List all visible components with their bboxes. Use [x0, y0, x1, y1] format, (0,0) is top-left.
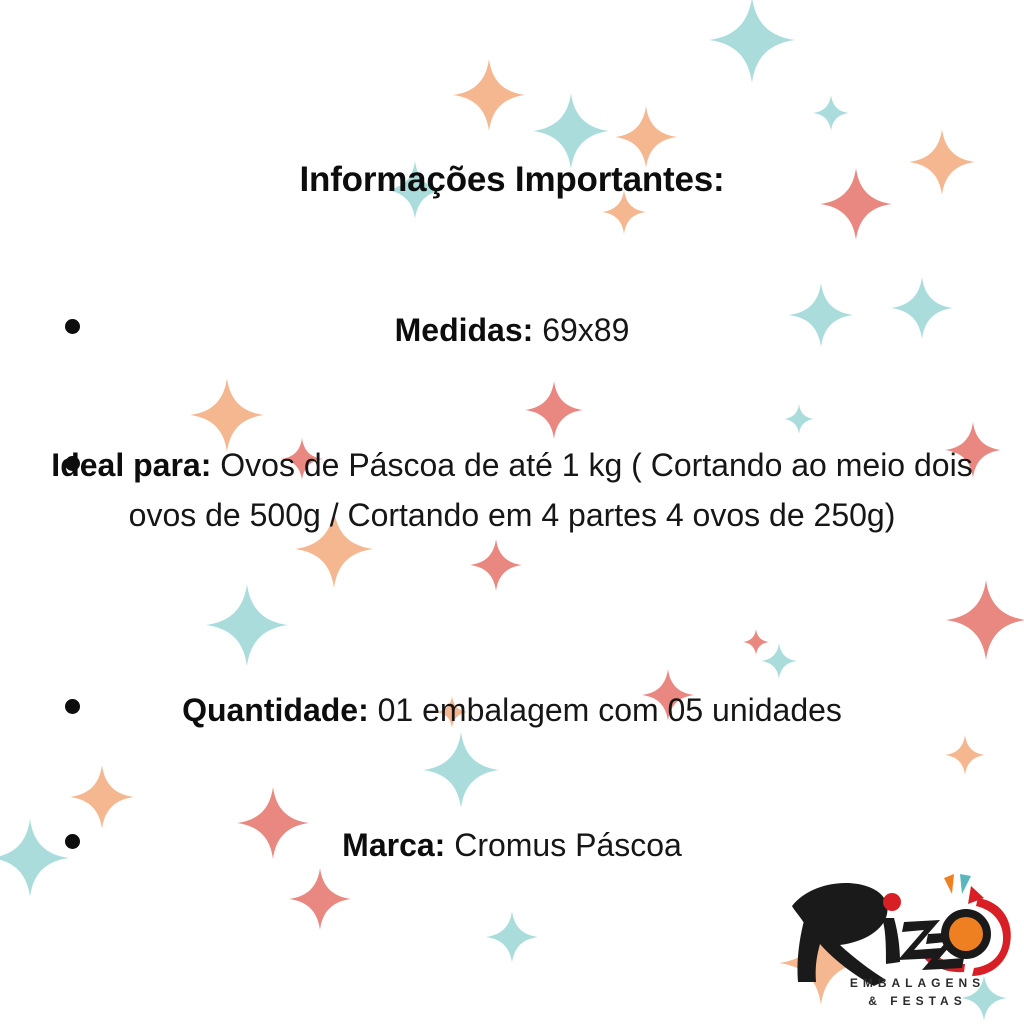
bullet-dot-icon	[65, 319, 80, 334]
list-item-label: Marca:	[342, 827, 445, 863]
list-item-value: 01 embalagem com 05 unidades	[378, 692, 842, 728]
rizzo-logo: EMBALAGENS & FESTAS	[782, 872, 1024, 1024]
list-item-text: Medidas: 69x89	[0, 305, 1024, 355]
list-item-text: Marca: Cromus Páscoa	[0, 820, 1024, 870]
list-item-label: Medidas:	[395, 312, 534, 348]
list-item: Quantidade: 01 embalagem com 05 unidades	[0, 685, 1024, 735]
list-item-text: Ideal para: Ovos de Páscoa de até 1 kg (…	[0, 440, 1024, 540]
bullet-dot-icon	[65, 699, 80, 714]
bullet-dot-icon	[65, 834, 80, 849]
list-item-value: 69x89	[542, 312, 629, 348]
product-info-graphic: Informações Importantes: Medidas: 69x89 …	[0, 0, 1024, 1024]
list-item-value: Cromus Páscoa	[454, 827, 682, 863]
content-area: Informações Importantes: Medidas: 69x89 …	[0, 0, 1024, 1024]
logo-tagline-line-1: EMBALAGENS	[794, 976, 1024, 990]
bullet-dot-icon	[65, 456, 80, 471]
list-item-text: Quantidade: 01 embalagem com 05 unidades	[0, 685, 1024, 735]
list-item-label: Quantidade:	[182, 692, 369, 728]
list-item-value: Ovos de Páscoa de até 1 kg ( Cortando ao…	[129, 447, 973, 533]
page-title: Informações Importantes:	[0, 160, 1024, 200]
logo-tagline-line-2: & FESTAS	[794, 994, 1024, 1008]
list-item: Marca: Cromus Páscoa	[0, 820, 1024, 870]
list-item: Ideal para: Ovos de Páscoa de até 1 kg (…	[0, 440, 1024, 540]
list-item: Medidas: 69x89	[0, 305, 1024, 355]
